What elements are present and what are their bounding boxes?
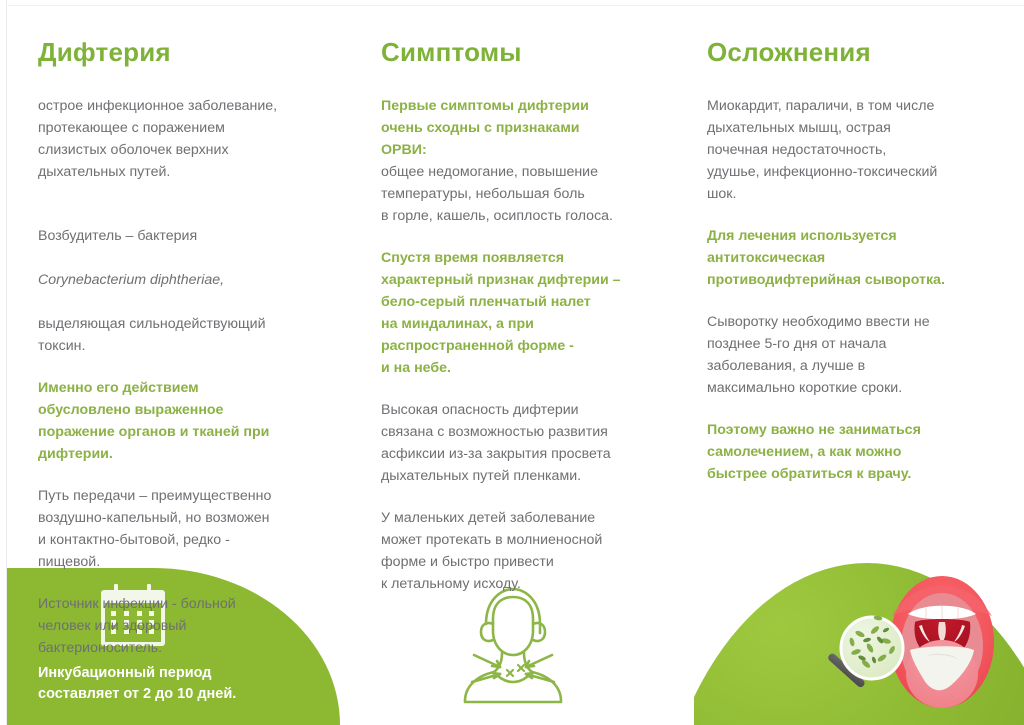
magnifier-lens <box>841 615 903 679</box>
infographic-page: Дифтерия острое инфекционное заболевание… <box>0 0 1024 725</box>
pathogen-line-1: Возбудитель – бактерия <box>38 228 197 244</box>
paragraph-infection-source: Источник инфекции - больной человек или … <box>38 593 328 659</box>
paragraph-complications-list: Миокардит, параличи, в том числе дыхател… <box>707 95 997 205</box>
content-columns: Дифтерия острое инфекционное заболевание… <box>0 0 1024 580</box>
page-left-edge <box>0 0 7 725</box>
paragraph-children-risk: У маленьких детей заболевание может прот… <box>381 507 661 595</box>
paragraph-early-symptoms-list: общее недомогание, повышение температуры… <box>381 161 661 227</box>
paragraph-membrane-sign: Спустя время появляется характерный приз… <box>381 247 661 379</box>
page-top-edge <box>0 0 1024 6</box>
open-mouth-throat-with-magnifier-icon <box>822 570 1022 720</box>
paragraph-pathogen: Возбудитель – бактерия Corynebacterium d… <box>38 203 328 357</box>
paragraph-antitoxic-serum: Для лечения используется антитоксическая… <box>707 225 997 291</box>
paragraph-asphyxia-risk: Высокая опасность дифтерии связана с воз… <box>381 399 661 487</box>
column-title-symptoms: Симптомы <box>381 38 661 67</box>
pathogen-species-name: Corynebacterium diphtheriae, <box>38 272 224 288</box>
pathogen-line-3: выделяющая сильнодействующий токсин. <box>38 316 266 354</box>
paragraph-serum-timing: Сыворотку необходимо ввести не позднее 5… <box>707 311 997 399</box>
incubation-period-text: Инкубационный период составляет от 2 до … <box>38 663 308 705</box>
paragraph-see-doctor: Поэтому важно не заниматься самолечением… <box>707 419 997 485</box>
column-title-diphtheria: Дифтерия <box>38 38 328 67</box>
column-diphtheria: Дифтерия острое инфекционное заболевание… <box>38 38 328 659</box>
paragraph-toxin-effect: Именно его действием обусловлено выражен… <box>38 377 328 465</box>
paragraph-early-symptoms-heading: Первые симптомы дифтерии очень сходны с … <box>381 95 661 161</box>
throat-illustration-panel <box>694 563 1024 725</box>
paragraph-definition: острое инфекционное заболевание, протека… <box>38 95 328 183</box>
person-swollen-neck-icon <box>450 583 576 707</box>
column-title-complications: Осложнения <box>707 38 997 67</box>
paragraph-transmission: Путь передачи – преимущественно воздушно… <box>38 485 328 573</box>
column-symptoms: Симптомы Первые симптомы дифтерии очень … <box>381 38 661 595</box>
column-complications: Осложнения Миокардит, параличи, в том чи… <box>707 38 997 485</box>
